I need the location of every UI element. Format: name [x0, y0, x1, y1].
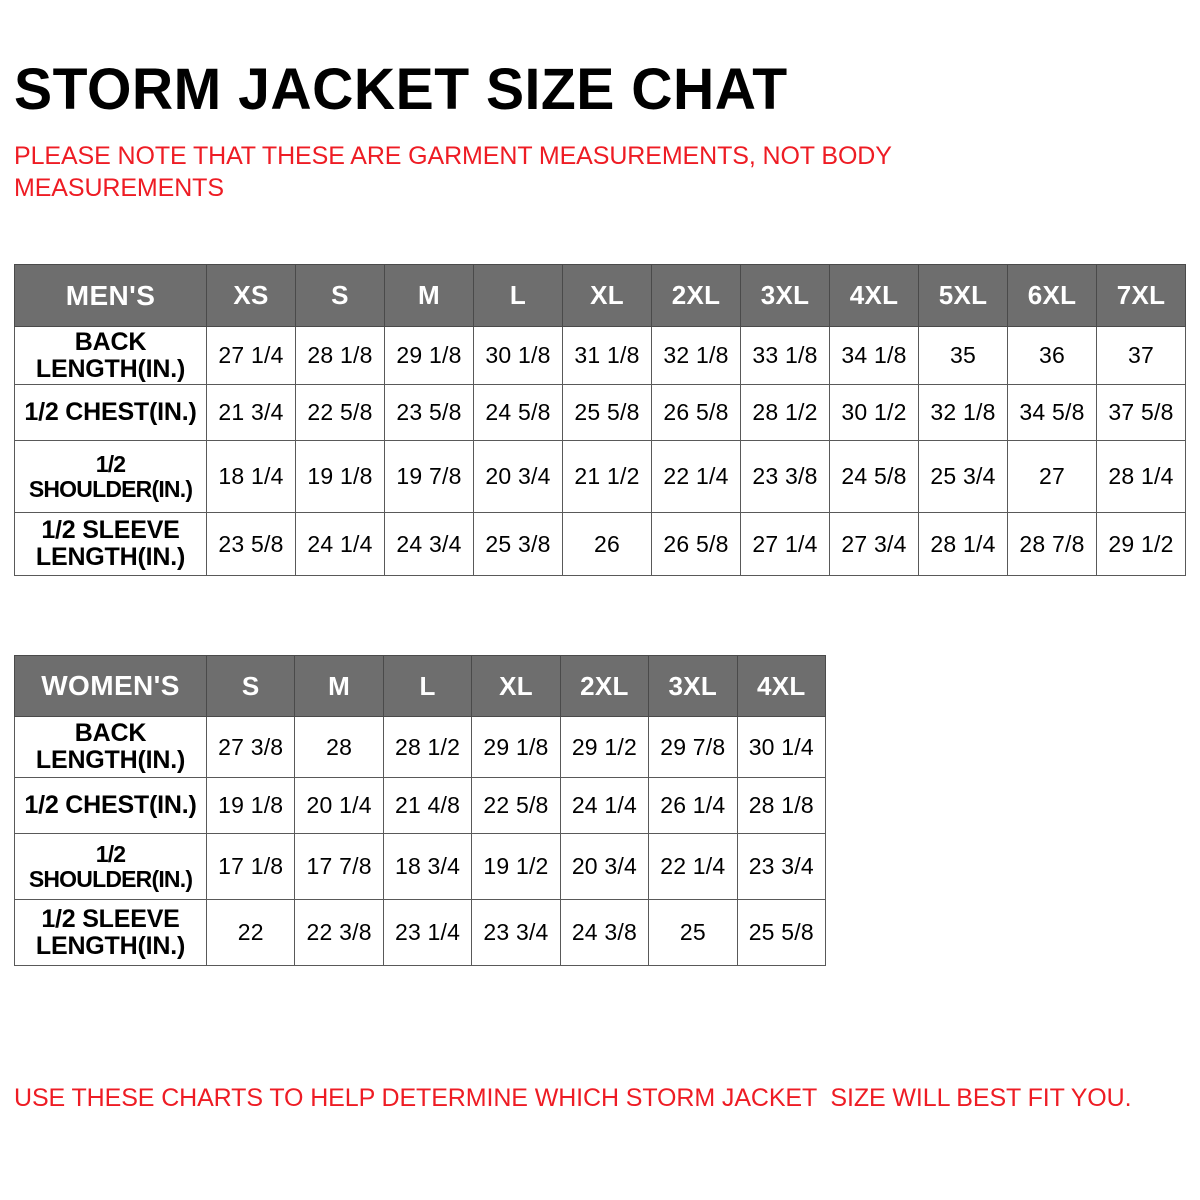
measurement-value: 22 5/8: [296, 385, 385, 441]
measurement-label-line: LENGTH(IN.): [36, 932, 185, 960]
table-row: BACKLENGTH(IN.)27 3/82828 1/229 1/829 1/…: [15, 717, 826, 778]
womens-size-header: L: [383, 656, 471, 717]
measurement-label-line: 1/2 SLEEVE: [41, 516, 179, 544]
womens-size-table: WOMEN'SSMLXL2XL3XL4XL BACKLENGTH(IN.)27 …: [14, 655, 826, 966]
measurement-value: 37 5/8: [1097, 385, 1186, 441]
measurement-value: 23 1/4: [383, 900, 471, 966]
measurement-value: 33 1/8: [741, 327, 830, 385]
mens-size-header: S: [296, 265, 385, 327]
measurement-value: 26 1/4: [649, 778, 737, 834]
measurement-value: 25 5/8: [737, 900, 825, 966]
measurement-value: 29 1/2: [560, 717, 648, 778]
measurement-label-line: 1/2 SHOULDER(IN.): [29, 451, 192, 502]
measurement-value: 35: [919, 327, 1008, 385]
measurement-label-line: LENGTH(IN.): [36, 746, 185, 774]
measurement-value: 24 1/4: [296, 513, 385, 576]
measurement-value: 30 1/4: [737, 717, 825, 778]
measurement-value: 19 1/8: [207, 778, 295, 834]
measurement-label-line: 1/2 CHEST(IN.): [24, 398, 196, 426]
measurement-value: 24 5/8: [830, 441, 919, 513]
mens-size-header: 2XL: [652, 265, 741, 327]
measurement-value: 28 1/2: [741, 385, 830, 441]
measurement-value: 24 5/8: [474, 385, 563, 441]
measurement-value: 31 1/8: [563, 327, 652, 385]
measurement-value: 23 3/4: [472, 900, 560, 966]
measurement-label: 1/2 SHOULDER(IN.): [15, 441, 207, 513]
mens-size-header: 6XL: [1008, 265, 1097, 327]
measurement-value: 22: [207, 900, 295, 966]
mens-size-header: 4XL: [830, 265, 919, 327]
garment-measurement-note: PLEASE NOTE THAT THESE ARE GARMENT MEASU…: [14, 140, 974, 204]
womens-table-header: WOMEN'SSMLXL2XL3XL4XL: [15, 656, 826, 717]
measurement-value: 34 5/8: [1008, 385, 1097, 441]
measurement-value: 24 3/8: [560, 900, 648, 966]
table-row: 1/2 CHEST(IN.)21 3/422 5/823 5/824 5/825…: [15, 385, 1186, 441]
measurement-value: 23 5/8: [207, 513, 296, 576]
measurement-value: 25 3/4: [919, 441, 1008, 513]
usage-note: USE THESE CHARTS TO HELP DETERMINE WHICH…: [14, 1083, 1174, 1114]
measurement-value: 17 1/8: [207, 834, 295, 900]
measurement-value: 25 3/8: [474, 513, 563, 576]
measurement-value: 19 7/8: [385, 441, 474, 513]
measurement-value: 28: [295, 717, 383, 778]
measurement-value: 25 5/8: [563, 385, 652, 441]
table-row: 1/2 SHOULDER(IN.)17 1/817 7/818 3/419 1/…: [15, 834, 826, 900]
mens-size-table: MEN'SXSSMLXL2XL3XL4XL5XL6XL7XL BACKLENGT…: [14, 264, 1186, 576]
measurement-value: 26: [563, 513, 652, 576]
measurement-label: 1/2 CHEST(IN.): [15, 778, 207, 834]
womens-size-header: M: [295, 656, 383, 717]
measurement-value: 27 3/8: [207, 717, 295, 778]
measurement-value: 22 1/4: [649, 834, 737, 900]
measurement-value: 24 1/4: [560, 778, 648, 834]
table-row: 1/2 SLEEVELENGTH(IN.)2222 3/823 1/423 3/…: [15, 900, 826, 966]
measurement-value: 29 1/2: [1097, 513, 1186, 576]
table-row: BACKLENGTH(IN.)27 1/428 1/829 1/830 1/83…: [15, 327, 1186, 385]
measurement-value: 19 1/8: [296, 441, 385, 513]
measurement-label-line: 1/2 CHEST(IN.): [24, 791, 196, 819]
measurement-label-line: 1/2 SHOULDER(IN.): [29, 841, 192, 892]
measurement-label-line: BACK: [75, 719, 146, 747]
table-row: 1/2 CHEST(IN.)19 1/820 1/421 4/822 5/824…: [15, 778, 826, 834]
womens-size-header: 4XL: [737, 656, 825, 717]
measurement-value: 26 5/8: [652, 385, 741, 441]
measurement-label-line: LENGTH(IN.): [36, 543, 185, 571]
mens-table-header: MEN'SXSSMLXL2XL3XL4XL5XL6XL7XL: [15, 265, 1186, 327]
page-title: STORM JACKET SIZE CHAT: [14, 61, 788, 119]
mens-size-header: XS: [207, 265, 296, 327]
mens-size-header: L: [474, 265, 563, 327]
measurement-value: 21 4/8: [383, 778, 471, 834]
measurement-label: 1/2 SLEEVELENGTH(IN.): [15, 900, 207, 966]
measurement-value: 32 1/8: [652, 327, 741, 385]
table-row: 1/2 SHOULDER(IN.)18 1/419 1/819 7/820 3/…: [15, 441, 1186, 513]
measurement-value: 19 1/2: [472, 834, 560, 900]
womens-size-header: S: [207, 656, 295, 717]
table-row: 1/2 SLEEVELENGTH(IN.)23 5/824 1/424 3/42…: [15, 513, 1186, 576]
measurement-label: 1/2 CHEST(IN.): [15, 385, 207, 441]
mens-table-body: BACKLENGTH(IN.)27 1/428 1/829 1/830 1/83…: [15, 327, 1186, 576]
measurement-value: 24 3/4: [385, 513, 474, 576]
measurement-value: 27: [1008, 441, 1097, 513]
measurement-label: 1/2 SHOULDER(IN.): [15, 834, 207, 900]
mens-size-header: XL: [563, 265, 652, 327]
mens-size-header: M: [385, 265, 474, 327]
measurement-value: 28 1/2: [383, 717, 471, 778]
mens-header-row: MEN'SXSSMLXL2XL3XL4XL5XL6XL7XL: [15, 265, 1186, 327]
measurement-label: BACKLENGTH(IN.): [15, 327, 207, 385]
measurement-value: 22 5/8: [472, 778, 560, 834]
measurement-value: 28 1/8: [737, 778, 825, 834]
measurement-value: 34 1/8: [830, 327, 919, 385]
womens-table-body: BACKLENGTH(IN.)27 3/82828 1/229 1/829 1/…: [15, 717, 826, 966]
measurement-value: 23 5/8: [385, 385, 474, 441]
mens-size-header: 5XL: [919, 265, 1008, 327]
measurement-value: 28 1/8: [296, 327, 385, 385]
measurement-value: 29 1/8: [472, 717, 560, 778]
measurement-value: 30 1/2: [830, 385, 919, 441]
measurement-value: 22 1/4: [652, 441, 741, 513]
measurement-value: 29 7/8: [649, 717, 737, 778]
measurement-value: 22 3/8: [295, 900, 383, 966]
measurement-value: 32 1/8: [919, 385, 1008, 441]
mens-corner-header: MEN'S: [15, 265, 207, 327]
womens-size-header: 2XL: [560, 656, 648, 717]
womens-size-header: 3XL: [649, 656, 737, 717]
measurement-value: 36: [1008, 327, 1097, 385]
measurement-value: 20 3/4: [474, 441, 563, 513]
measurement-label-line: BACK: [75, 328, 146, 356]
measurement-value: 17 7/8: [295, 834, 383, 900]
measurement-value: 20 1/4: [295, 778, 383, 834]
measurement-value: 20 3/4: [560, 834, 648, 900]
measurement-label: 1/2 SLEEVELENGTH(IN.): [15, 513, 207, 576]
womens-header-row: WOMEN'SSMLXL2XL3XL4XL: [15, 656, 826, 717]
measurement-label-line: LENGTH(IN.): [36, 355, 185, 383]
measurement-value: 29 1/8: [385, 327, 474, 385]
measurement-value: 28 1/4: [919, 513, 1008, 576]
measurement-value: 37: [1097, 327, 1186, 385]
size-chart-page: STORM JACKET SIZE CHAT PLEASE NOTE THAT …: [0, 0, 1200, 1200]
measurement-value: 28 1/4: [1097, 441, 1186, 513]
womens-size-header: XL: [472, 656, 560, 717]
measurement-value: 21 3/4: [207, 385, 296, 441]
measurement-value: 30 1/8: [474, 327, 563, 385]
measurement-value: 28 7/8: [1008, 513, 1097, 576]
measurement-value: 18 1/4: [207, 441, 296, 513]
measurement-value: 23 3/8: [741, 441, 830, 513]
measurement-value: 21 1/2: [563, 441, 652, 513]
measurement-value: 25: [649, 900, 737, 966]
measurement-label: BACKLENGTH(IN.): [15, 717, 207, 778]
measurement-value: 26 5/8: [652, 513, 741, 576]
measurement-label-line: 1/2 SLEEVE: [41, 905, 179, 933]
measurement-value: 23 3/4: [737, 834, 825, 900]
measurement-value: 27 1/4: [741, 513, 830, 576]
measurement-value: 27 1/4: [207, 327, 296, 385]
womens-corner-header: WOMEN'S: [15, 656, 207, 717]
measurement-value: 18 3/4: [383, 834, 471, 900]
mens-size-header: 7XL: [1097, 265, 1186, 327]
mens-size-header: 3XL: [741, 265, 830, 327]
measurement-value: 27 3/4: [830, 513, 919, 576]
